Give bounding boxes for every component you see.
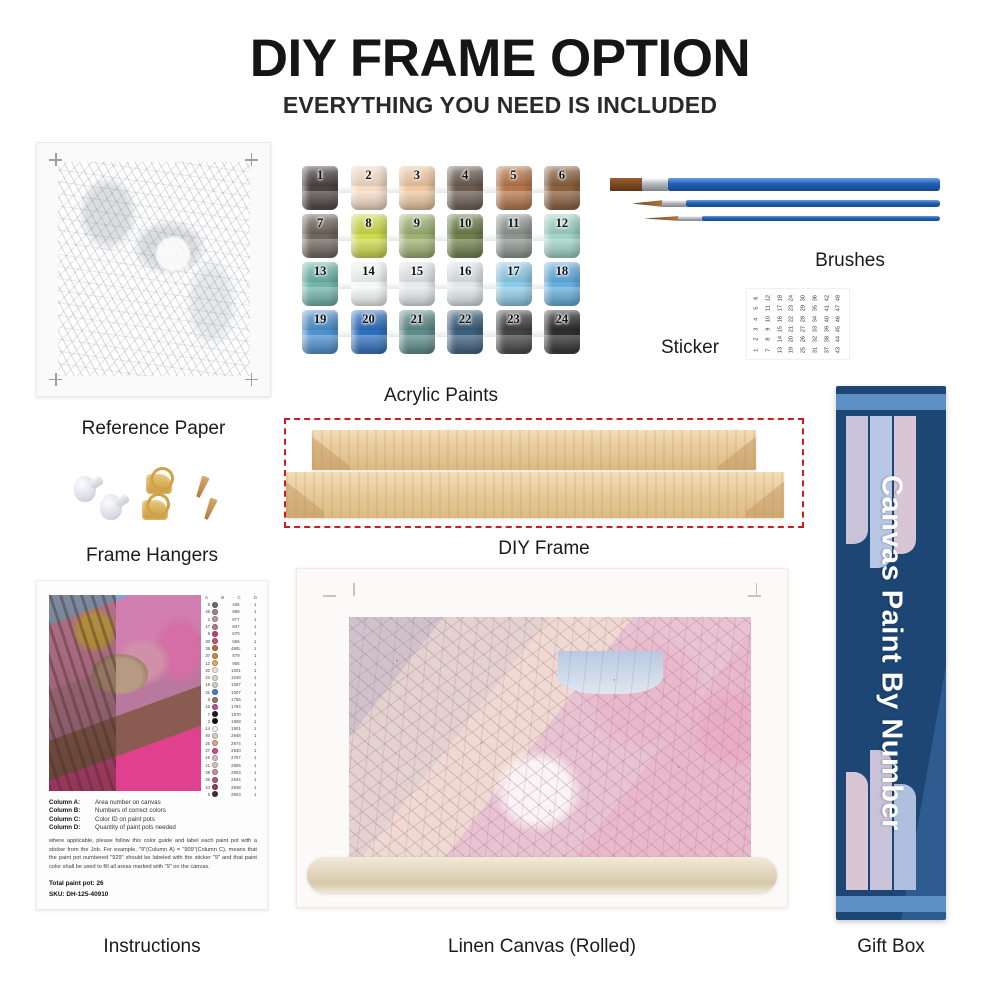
legend-area-number: 19 <box>203 682 210 687</box>
legend-quantity: 1 <box>254 770 259 775</box>
legend-quantity: 1 <box>254 763 259 768</box>
legend-quantity: 1 <box>254 733 259 738</box>
caption-diy-frame: DIY Frame <box>284 538 804 560</box>
pot-number-label: 13 <box>302 264 338 279</box>
pot-number-label: 11 <box>496 216 532 231</box>
pot-number-label: 21 <box>399 312 435 327</box>
instructions-card: A B C D 84361466881267711784719670130665… <box>36 580 268 910</box>
legend-row: 84361 <box>203 601 259 608</box>
legend-color-code: 2797 <box>220 755 252 760</box>
legend-area-number: 7 <box>203 712 210 717</box>
crop-mark <box>251 153 253 166</box>
legend-quantity: 1 <box>254 785 259 790</box>
legend-color-code: 1001 <box>220 668 252 673</box>
pot-number-label: 19 <box>302 312 338 327</box>
flat-brush <box>610 178 940 191</box>
canvas-roll-edge <box>307 857 777 893</box>
legend-color-code: 480L <box>220 646 252 651</box>
page-subtitle: EVERYTHING YOU NEED IS INCLUDED <box>0 92 1000 119</box>
caption-linen-canvas: Linen Canvas (Rolled) <box>296 936 788 958</box>
pot-number-label: 3 <box>399 168 435 183</box>
instructions-painting-preview <box>49 595 201 791</box>
legend-color-swatch <box>212 689 218 695</box>
pot-number-label: 24 <box>544 312 580 327</box>
legend-quantity: 1 <box>254 624 259 629</box>
legend-row: 718701 <box>203 710 259 717</box>
instruction-column-label: Column C: <box>49 816 89 823</box>
legend-quantity: 1 <box>254 675 259 680</box>
crop-mark <box>251 373 253 386</box>
sticker-number: 43 <box>834 344 844 356</box>
legend-color-swatch <box>212 638 218 644</box>
d-ring-hanger <box>142 500 168 520</box>
pot-number-label: 7 <box>302 216 338 231</box>
legend-color-code: 847 <box>220 624 252 629</box>
legend-color-code: 906 <box>220 661 252 666</box>
crop-mark <box>748 595 761 597</box>
paint-pot-17: 17 <box>496 262 532 306</box>
legend-area-number: 16 <box>203 755 210 760</box>
brush-bristles <box>610 178 644 191</box>
crop-mark <box>55 373 57 386</box>
legend-area-number: 3 <box>203 719 210 724</box>
legend-color-swatch <box>212 645 218 651</box>
legend-color-swatch <box>212 624 218 630</box>
legend-area-number: 5 <box>203 792 210 797</box>
legend-row: 466881 <box>203 608 259 615</box>
instruction-column-label: Column B: <box>49 807 89 814</box>
sku-label: SKU: DH-125-40910 <box>49 890 257 901</box>
legend-area-number: 38 <box>203 646 210 651</box>
paint-pot-16: 16 <box>447 262 483 306</box>
legend-row: 526031 <box>203 791 259 798</box>
legend-quantity: 1 <box>254 748 259 753</box>
stretcher-bar <box>312 430 756 470</box>
brush-handle <box>668 178 940 191</box>
legend-color-code: 1048 <box>220 675 252 680</box>
legend-color-code: 879 <box>220 653 252 658</box>
paint-pot-2: 2 <box>351 166 387 210</box>
legend-color-swatch <box>212 616 218 622</box>
caption-acrylic-paints: Acrylic Paints <box>296 385 586 407</box>
legend-color-swatch <box>212 682 218 688</box>
legend-area-number: 25 <box>203 741 210 746</box>
legend-color-code: 1901 <box>220 726 252 731</box>
crop-mark <box>55 153 57 166</box>
total-paint-pots: Total paint pot: 26 <box>49 879 257 890</box>
legend-color-swatch <box>212 660 218 666</box>
paint-pot-9: 9 <box>399 214 435 258</box>
pot-rail <box>302 330 580 337</box>
crop-mark <box>323 595 336 597</box>
legend-color-swatch <box>212 675 218 681</box>
legend-header-d: D <box>254 595 257 600</box>
legend-row: 2729301 <box>203 747 259 754</box>
instruction-column-label: Column A: <box>49 799 89 806</box>
legend-color-code: 436 <box>220 602 252 607</box>
legend-color-swatch <box>212 609 218 615</box>
paint-pot-row: 131415161718 <box>296 262 586 306</box>
legend-color-swatch <box>212 718 218 724</box>
reference-paper-image <box>36 142 271 397</box>
page-title: DIY FRAME OPTION <box>0 28 1000 89</box>
legend-row: 1517841 <box>203 703 259 710</box>
diy-frame-highlight-box <box>284 418 804 528</box>
paint-pot-19: 19 <box>302 310 338 354</box>
pot-number-label: 1 <box>302 168 338 183</box>
legend-area-number: 40 <box>203 733 210 738</box>
brush-ferrule <box>678 216 702 221</box>
sticker-number: 19 <box>787 344 797 356</box>
box-stripe <box>846 416 868 544</box>
legend-area-number: 8 <box>203 602 210 607</box>
caption-reference-paper: Reference Paper <box>36 418 271 440</box>
pot-number-label: 10 <box>447 216 483 231</box>
round-liner-brush <box>632 200 940 207</box>
paint-pot-21: 21 <box>399 310 435 354</box>
pot-number-label: 2 <box>351 168 387 183</box>
legend-quantity: 1 <box>254 697 259 702</box>
paint-pot-6: 6 <box>544 166 580 210</box>
pot-rail <box>302 282 580 289</box>
linen-canvas-image <box>296 568 788 908</box>
legend-quantity: 1 <box>254 609 259 614</box>
legend-color-swatch <box>212 740 218 746</box>
color-legend-table: A B C D 84361466881267711784719670130665… <box>203 595 259 791</box>
legend-color-swatch <box>212 784 218 790</box>
instructions-column-list: Column A:Area number on canvasColumn B:N… <box>49 799 257 831</box>
instruction-column-label: Column D: <box>49 824 89 831</box>
infographic-stage: DIY FRAME OPTION EVERYTHING YOU NEED IS … <box>0 0 1000 1000</box>
legend-row: 1627971 <box>203 754 259 761</box>
paint-pot-24: 24 <box>544 310 580 354</box>
caption-instructions: Instructions <box>36 936 268 958</box>
legend-color-swatch <box>212 762 218 768</box>
legend-color-swatch <box>212 748 218 754</box>
legend-color-code: 688 <box>220 609 252 614</box>
brush-ferrule <box>642 178 668 191</box>
pot-number-label: 14 <box>351 264 387 279</box>
box-stripe <box>846 772 868 890</box>
legend-color-swatch <box>212 631 218 637</box>
legend-color-code: 2948 <box>220 733 252 738</box>
brush-handle <box>686 200 940 207</box>
legend-row: 319081 <box>203 718 259 725</box>
legend-row: 3528441 <box>203 776 259 783</box>
pot-number-label: 22 <box>447 312 483 327</box>
box-end-cap <box>836 394 946 410</box>
wall-hook <box>100 494 122 520</box>
paint-pot-row: 789101112 <box>296 214 586 258</box>
paint-pot-12: 12 <box>544 214 580 258</box>
legend-area-number: 14 <box>203 726 210 731</box>
brush-bristles <box>644 216 680 221</box>
canvas-line-art <box>349 617 751 859</box>
legend-color-swatch <box>212 777 218 783</box>
frame-hangers-group <box>70 468 240 538</box>
legend-color-code: 670 <box>220 631 252 636</box>
legend-quantity: 1 <box>254 602 259 607</box>
legend-body: 84361466881267711784719670130665138480L1… <box>203 601 259 798</box>
legend-area-number: 37 <box>203 653 210 658</box>
paint-pot-18: 18 <box>544 262 580 306</box>
legend-color-code: 1908 <box>220 719 252 724</box>
paint-pot-8: 8 <box>351 214 387 258</box>
instruction-column-line: Column A:Area number on canvas <box>49 799 257 806</box>
legend-quantity: 1 <box>254 704 259 709</box>
legend-row: 1910671 <box>203 681 259 688</box>
legend-row: 2529741 <box>203 740 259 747</box>
legend-quantity: 1 <box>254 653 259 658</box>
instructions-text-block: Column A:Area number on canvasColumn B:N… <box>49 799 257 901</box>
paint-pot-11: 11 <box>496 214 532 258</box>
legend-row: 2010011 <box>203 667 259 674</box>
legend-color-swatch <box>212 726 218 732</box>
legend-color-code: 2803 <box>220 770 252 775</box>
legend-quantity: 1 <box>254 631 259 636</box>
legend-area-number: 11 <box>203 763 210 768</box>
paint-pot-row: 192021222324 <box>296 310 586 354</box>
sticker-number: 31 <box>810 344 820 356</box>
legend-color-swatch <box>212 697 218 703</box>
paint-pot-3: 3 <box>399 166 435 210</box>
legend-quantity: 1 <box>254 668 259 673</box>
legend-row: 129061 <box>203 659 259 666</box>
sticker-number: 37 <box>822 344 832 356</box>
paint-pot-14: 14 <box>351 262 387 306</box>
legend-color-code: 2948 <box>220 785 252 790</box>
legend-row: 378791 <box>203 652 259 659</box>
legend-quantity: 1 <box>254 690 259 695</box>
paint-pot-15: 15 <box>399 262 435 306</box>
legend-color-swatch <box>212 711 218 717</box>
legend-color-swatch <box>212 704 218 710</box>
legend-color-code: 1870 <box>220 712 252 717</box>
paint-pot-22: 22 <box>447 310 483 354</box>
sticker-number-grid: 6121824303642485111723293541474101622283… <box>751 293 845 355</box>
legend-area-number: 30 <box>203 639 210 644</box>
legend-area-number: 23 <box>203 675 210 680</box>
legend-quantity: 1 <box>254 639 259 644</box>
reference-line-art <box>58 162 250 376</box>
crop-mark <box>756 583 758 596</box>
caption-brushes: Brushes <box>760 250 940 272</box>
d-ring-hanger <box>146 474 172 494</box>
brush-bristles <box>632 200 664 207</box>
pot-number-label: 6 <box>544 168 580 183</box>
instruction-column-text: Color ID on paint pots <box>95 816 155 823</box>
legend-area-number: 31 <box>203 690 210 695</box>
legend-area-number: 46 <box>203 609 210 614</box>
legend-quantity: 1 <box>254 661 259 666</box>
paint-pot-10: 10 <box>447 214 483 258</box>
legend-color-swatch <box>212 667 218 673</box>
paint-pot-row: 123456 <box>296 166 586 210</box>
legend-row: 2310481 <box>203 674 259 681</box>
pot-number-label: 5 <box>496 168 532 183</box>
legend-color-code: 665 <box>220 639 252 644</box>
paint-pot-1: 1 <box>302 166 338 210</box>
crop-mark <box>353 583 355 596</box>
legend-color-swatch <box>212 602 218 608</box>
instruction-column-line: Column B:Numbers of correct colors <box>49 807 257 814</box>
brush-handle <box>702 216 940 221</box>
paint-pot-13: 13 <box>302 262 338 306</box>
paint-pot-23: 23 <box>496 310 532 354</box>
legend-row: 3110071 <box>203 689 259 696</box>
legend-color-code: 2844 <box>220 777 252 782</box>
legend-area-number: 2 <box>203 617 210 622</box>
sticker-number: 25 <box>799 344 809 356</box>
legend-row: 4029481 <box>203 732 259 739</box>
paint-pot-4: 4 <box>447 166 483 210</box>
legend-color-swatch <box>212 733 218 739</box>
legend-header-a: A <box>205 595 208 600</box>
legend-color-code: 2906 <box>220 763 252 768</box>
caption-frame-hangers: Frame Hangers <box>52 545 252 567</box>
pot-number-label: 17 <box>496 264 532 279</box>
instruction-column-text: Quantity of paint pots needed <box>95 824 176 831</box>
legend-color-swatch <box>212 769 218 775</box>
legend-header-c: C <box>237 595 240 600</box>
legend-row: 306651 <box>203 637 259 644</box>
pot-number-label: 15 <box>399 264 435 279</box>
legend-row: 38480L1 <box>203 645 259 652</box>
legend-quantity: 1 <box>254 777 259 782</box>
legend-area-number: 35 <box>203 777 210 782</box>
legend-quantity: 1 <box>254 755 259 760</box>
sticker-sheet-image: 6121824303642485111723293541474101622283… <box>746 288 850 360</box>
legend-row: 96701 <box>203 630 259 637</box>
legend-row: 3928031 <box>203 769 259 776</box>
legend-area-number: 44 <box>203 785 210 790</box>
paint-pot-20: 20 <box>351 310 387 354</box>
pot-number-label: 18 <box>544 264 580 279</box>
legend-color-code: 1067 <box>220 682 252 687</box>
legend-area-number: 20 <box>203 668 210 673</box>
legend-quantity: 1 <box>254 792 259 797</box>
legend-quantity: 1 <box>254 726 259 731</box>
legend-area-number: 12 <box>203 661 210 666</box>
brush-ferrule <box>662 200 686 207</box>
pot-rail <box>302 234 580 241</box>
caption-sticker: Sticker <box>640 337 740 359</box>
legend-row: 4429481 <box>203 783 259 790</box>
pot-number-label: 23 <box>496 312 532 327</box>
legend-color-swatch <box>212 791 218 797</box>
legend-quantity: 1 <box>254 617 259 622</box>
legend-color-code: 1756 <box>220 697 252 702</box>
pot-rail <box>302 186 580 193</box>
fine-detail-brush <box>644 216 940 221</box>
legend-color-code: 2603 <box>220 792 252 797</box>
legend-row: 1419011 <box>203 725 259 732</box>
paint-pot-7: 7 <box>302 214 338 258</box>
instruction-column-text: Numbers of correct colors <box>95 807 166 814</box>
legend-color-code: 2930 <box>220 748 252 753</box>
sticker-number: 13 <box>775 344 785 356</box>
legend-color-code: 677 <box>220 617 252 622</box>
pot-number-label: 4 <box>447 168 483 183</box>
pot-number-label: 16 <box>447 264 483 279</box>
pot-number-label: 20 <box>351 312 387 327</box>
sticker-number: 7 <box>763 344 773 356</box>
legend-row: 26771 <box>203 616 259 623</box>
instruction-column-text: Area number on canvas <box>95 799 161 806</box>
gift-box-title: Canvas Paint By Number <box>875 475 908 831</box>
instruction-column-line: Column D:Quantity of paint pots needed <box>49 824 257 831</box>
instruction-column-line: Column C:Color ID on paint pots <box>49 816 257 823</box>
legend-area-number: 17 <box>203 624 210 629</box>
acrylic-paints-group: 123456789101112131415161718192021222324 <box>296 166 586 356</box>
screw <box>202 497 218 520</box>
paint-pot-5: 5 <box>496 166 532 210</box>
legend-quantity: 1 <box>254 646 259 651</box>
legend-quantity: 1 <box>254 682 259 687</box>
legend-row: 178471 <box>203 623 259 630</box>
legend-quantity: 1 <box>254 719 259 724</box>
wall-hook <box>74 476 96 502</box>
instructions-footer: Total paint pot: 26 SKU: DH-125-40910 <box>49 879 257 901</box>
legend-area-number: 9 <box>203 631 210 636</box>
legend-color-code: 1007 <box>220 690 252 695</box>
legend-color-code: 2974 <box>220 741 252 746</box>
legend-area-number: 8 <box>203 697 210 702</box>
legend-area-number: 15 <box>203 704 210 709</box>
pot-number-label: 9 <box>399 216 435 231</box>
pot-number-label: 12 <box>544 216 580 231</box>
stretcher-bar <box>286 472 784 518</box>
caption-gift-box: Gift Box <box>836 936 946 958</box>
legend-header-b: B <box>221 595 224 600</box>
legend-row: 1129061 <box>203 762 259 769</box>
instructions-paragraph: where applicable, please follow this col… <box>49 837 257 872</box>
box-end-cap <box>836 896 946 912</box>
screw <box>194 475 210 498</box>
legend-color-swatch <box>212 755 218 761</box>
gift-box-image: Canvas Paint By Number <box>836 386 946 920</box>
sticker-number: 1 <box>752 344 762 356</box>
legend-quantity: 1 <box>254 741 259 746</box>
legend-quantity: 1 <box>254 712 259 717</box>
pot-number-label: 8 <box>351 216 387 231</box>
legend-row: 817561 <box>203 696 259 703</box>
legend-color-code: 1784 <box>220 704 252 709</box>
legend-color-swatch <box>212 653 218 659</box>
legend-area-number: 27 <box>203 748 210 753</box>
legend-area-number: 39 <box>203 770 210 775</box>
